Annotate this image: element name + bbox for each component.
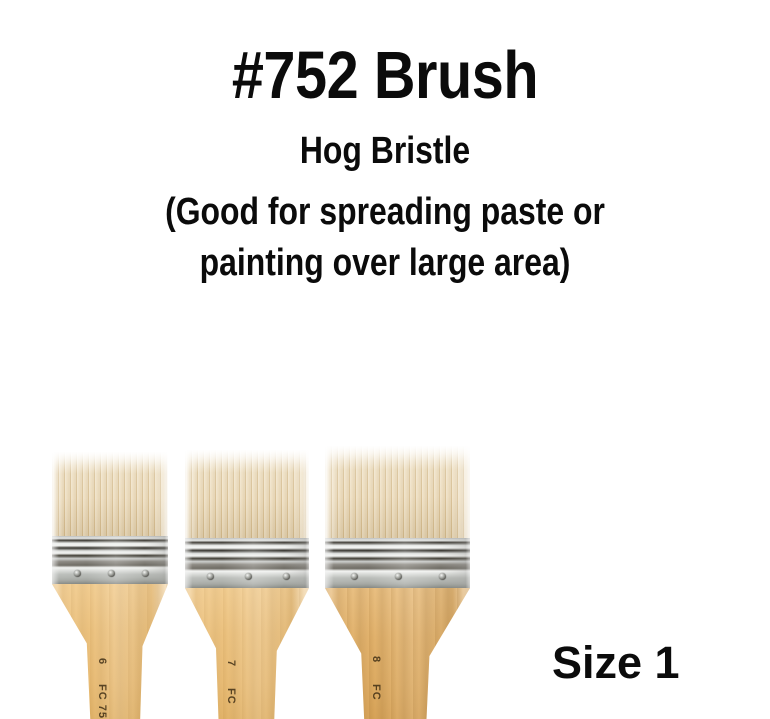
brush-size-8: 8 FC bbox=[325, 446, 470, 719]
handle-size-number: 7 bbox=[225, 660, 237, 667]
ferrule-rivet bbox=[439, 573, 446, 580]
bristle-head bbox=[185, 450, 309, 538]
ferrule-rivet bbox=[395, 573, 402, 580]
bristle-head bbox=[325, 446, 470, 538]
metal-ferrule bbox=[185, 538, 309, 588]
bristle-head bbox=[52, 452, 168, 536]
ferrule-rivet bbox=[351, 573, 358, 580]
wooden-handle: 7 FC bbox=[185, 588, 309, 719]
wooden-handle: 8 FC bbox=[325, 588, 470, 719]
product-text-block: #752 Brush Hog Bristle (Good for spreadi… bbox=[0, 0, 770, 288]
brush-size-6: 6 FC 752 bbox=[52, 452, 168, 719]
handle-product-code: FC bbox=[225, 688, 237, 705]
handle-product-code: FC 752 bbox=[96, 684, 108, 719]
brush-size-7: 7 FC bbox=[185, 450, 309, 719]
handle-size-number: 8 bbox=[370, 656, 382, 663]
handle-size-number: 6 bbox=[96, 658, 108, 665]
product-subtitle: Hog Bristle bbox=[62, 110, 709, 171]
ferrule-rivet bbox=[245, 573, 252, 580]
product-image-canvas: #752 Brush Hog Bristle (Good for spreadi… bbox=[0, 0, 770, 719]
size-label: Size 1 bbox=[552, 637, 680, 689]
usage-note-line-1: (Good for spreading paste or bbox=[62, 187, 709, 238]
ferrule-rivet bbox=[283, 573, 290, 580]
metal-ferrule bbox=[52, 536, 168, 584]
ferrule-rivet bbox=[74, 570, 81, 577]
metal-ferrule bbox=[325, 538, 470, 588]
ferrule-rivet bbox=[207, 573, 214, 580]
handle-product-code: FC bbox=[370, 684, 382, 701]
ferrule-rivet bbox=[108, 570, 115, 577]
ferrule-rivet bbox=[142, 570, 149, 577]
product-usage-note: (Good for spreading paste or painting ov… bbox=[62, 171, 709, 288]
wooden-handle: 6 FC 752 bbox=[52, 584, 168, 719]
page-title: #752 Brush bbox=[54, 0, 716, 110]
usage-note-line-2: painting over large area) bbox=[62, 238, 709, 289]
